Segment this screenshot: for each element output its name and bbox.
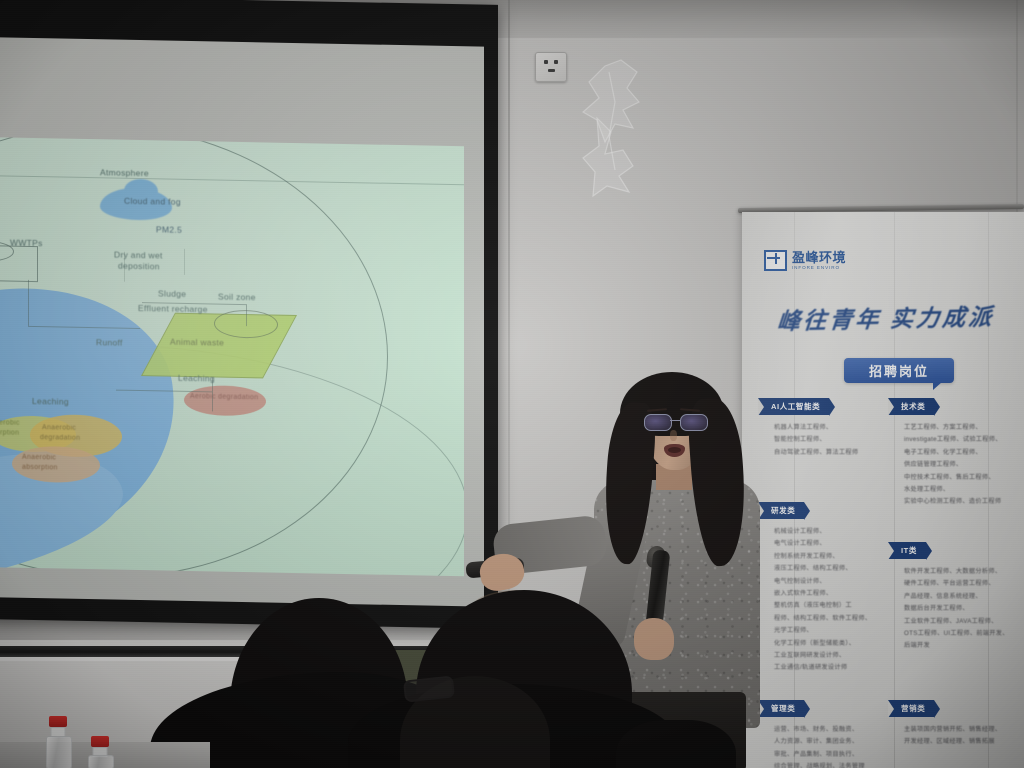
recruitment-pill-heading: 招聘岗位 (844, 358, 954, 383)
list-item: 机械设计工程师、 (774, 526, 871, 538)
list-item: 综合管理、战略规划、法务管理 (774, 761, 865, 768)
presenter-hand-holding-microphone (634, 618, 674, 660)
category-item-list: 软件开发工程师、大数据分析师、 硬件工程师、平台运营工程师、 产品经理、信息系统… (888, 566, 1009, 653)
connector-line (28, 280, 29, 326)
banner-category-marketing: 营销类 主装项国内营销开拓、销售经理、 开发经理、区域经理、销售拓展 (888, 698, 1001, 765)
projection-screen-surface: Atmosphere Cloud and fog PM2.5 Dry and w… (0, 37, 484, 606)
list-item: 自动驾驶工程师、算法工程师 (774, 447, 858, 459)
list-item: 后端开发 (904, 640, 1009, 652)
list-item: 运营、市场、财务、投融资、 (774, 724, 865, 736)
list-item: 开发经理、区域经理、销售拓展 (904, 736, 1001, 748)
slide-label: Sludge (158, 288, 186, 299)
water-bottle-2 (88, 736, 112, 768)
photo-scene: Atmosphere Cloud and fog PM2.5 Dry and w… (0, 0, 1024, 768)
slide-label: Effluent recharge (138, 303, 208, 314)
list-item: 工业通信/轨道研发设计师 (774, 662, 871, 674)
connector-line (184, 249, 185, 275)
list-item: 中控技术工程师、售后工程师、 (904, 472, 1002, 484)
list-item: 工艺工程师、方案工程师、 (904, 422, 1002, 434)
slide-label: absorption (22, 464, 58, 472)
bottle-body (88, 755, 114, 768)
slide-label: Runoff (96, 337, 123, 348)
list-item: 电气设计工程师、 (774, 538, 871, 550)
list-item: 化学工程师（新型储能类）、 (774, 638, 871, 650)
category-tag: IT类 (888, 542, 926, 559)
bottle-cap (49, 716, 67, 727)
list-item: 硬件工程师、平台运营工程师、 (904, 578, 1009, 590)
socket-hole (544, 60, 548, 64)
eyeglass-lens (680, 414, 708, 431)
category-item-list: 工艺工程师、方案工程师、 investigate工程师、试验工程师、 电子工程师… (888, 422, 1002, 509)
eyeglasses-icon (644, 414, 708, 430)
logo-chinese-name: 盈峰环境 (792, 251, 846, 264)
list-item: investigate工程师、试验工程师、 (904, 434, 1002, 446)
slide-label: degradation (40, 434, 80, 442)
eyeglass-lens (644, 414, 672, 431)
banner-category-technical: 技术类 工艺工程师、方案工程师、 investigate工程师、试验工程师、 电… (888, 396, 1002, 525)
list-item: 实验中心检测工程师、造价工程师 (904, 496, 1002, 508)
logo-mark-icon (764, 250, 787, 271)
slide-label: Cloud and fog (124, 196, 181, 207)
logo-english-name: INFORE ENVIRO (792, 266, 846, 271)
list-item: 水处理工程师、 (904, 484, 1002, 496)
slide-label: Leaching (178, 373, 215, 384)
socket-hole (554, 60, 558, 64)
list-item: 嵌入式软件工程师、 (774, 588, 871, 600)
slide-label: deposition (118, 261, 160, 272)
slide-label: Anaerobic (22, 454, 56, 462)
projection-screen-frame: Atmosphere Cloud and fog PM2.5 Dry and w… (0, 0, 498, 629)
list-item: 供应链管理工程师、 (904, 459, 1002, 471)
list-item: 审批、产品集制、项目执行、 (774, 749, 865, 761)
presenter-nose (670, 430, 677, 441)
list-item: OTS工程师、UI工程师、前端开发、 (904, 628, 1009, 640)
list-item: 工业互联网研发设计师、 (774, 650, 871, 662)
recruitment-banner: 盈峰环境 INFORE ENVIRO 峰往青年 实力成派 招聘岗位 AI人工智能… (742, 212, 1024, 768)
company-logo: 盈峰环境 INFORE ENVIRO (764, 250, 846, 271)
slide-label: Anaerobic (42, 424, 76, 432)
list-item: 数据后台开发工程师、 (904, 603, 1009, 615)
category-tag: 技术类 (888, 398, 934, 415)
slide-label: Aerobic degradation (190, 393, 258, 401)
list-item: 控制系统开发工程师、 (774, 551, 871, 563)
list-item: 产品经理、信息系统经理、 (904, 591, 1009, 603)
socket-hole (548, 69, 555, 72)
banner-category-it: IT类 软件开发工程师、大数据分析师、 硬件工程师、平台运营工程师、 产品经理、… (888, 540, 1009, 669)
connector-line (246, 304, 247, 326)
list-item: 光学工程师、 (774, 625, 871, 637)
list-item: 智能控制工程师、 (774, 434, 858, 446)
slide-label: PM2.5 (156, 224, 182, 235)
bottle-cap (91, 736, 109, 747)
list-item: 人力资源、审计、集团业务、 (774, 736, 865, 748)
eyeglass-bridge (670, 420, 681, 421)
banner-slogan: 峰往青年 实力成派 (774, 298, 997, 337)
category-item-list: 主装项国内营销开拓、销售经理、 开发经理、区域经理、销售拓展 (888, 724, 1001, 749)
slide-label: Leaching (32, 396, 69, 407)
category-tag: 营销类 (888, 700, 934, 717)
bottle-body (46, 736, 72, 768)
slide-label: sorption (0, 429, 19, 437)
slide-label: Aerobic (0, 419, 20, 426)
list-item: 电气控制设计师、 (774, 576, 871, 588)
wall-socket-icon[interactable] (535, 52, 567, 82)
slide-label: Soil zone (218, 292, 256, 303)
list-item: 液压工程师、结构工程师、 (774, 563, 871, 575)
slide-label: WWTPs (10, 238, 43, 249)
list-item: 整机仿真（液压电控制）工 (774, 600, 871, 612)
list-item: 程师、结构工程师、软件工程师、 (774, 613, 871, 625)
audience-head-right (616, 720, 736, 768)
list-item: 机器人算法工程师、 (774, 422, 858, 434)
list-item: 软件开发工程师、大数据分析师、 (904, 566, 1009, 578)
slide-label: Atmosphere (100, 167, 149, 178)
water-bottle-1 (46, 716, 70, 768)
slide-label: Dry and wet (114, 250, 163, 261)
presenter-mouth-inner (668, 447, 681, 453)
list-item: 电子工程师、化学工程师、 (904, 447, 1002, 459)
list-item: 工业软件工程师、JAVA工程师、 (904, 616, 1009, 628)
presentation-slide: Atmosphere Cloud and fog PM2.5 Dry and w… (0, 137, 464, 576)
slide-label: Animal waste (170, 337, 224, 348)
list-item: 主装项国内营销开拓、销售经理、 (904, 724, 1001, 736)
